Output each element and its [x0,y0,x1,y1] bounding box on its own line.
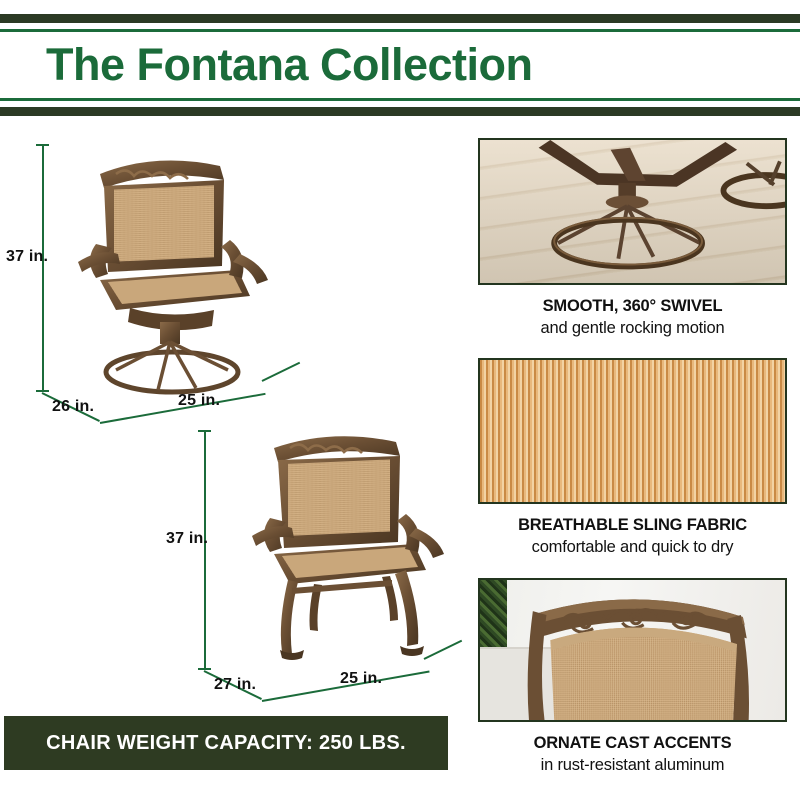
header-rule-bottom-thick [0,107,800,116]
swivel-depth-label: 26 in. [52,398,94,416]
swivel-chair-illustration [60,140,310,410]
ornate-chair-back-artwork [480,580,785,720]
swivel-height-label: 37 in. [6,248,48,266]
swivel-base-artwork [480,140,785,283]
feature-headline-swivel: SMOOTH, 360° SWIVEL [478,296,787,317]
dining-height-label: 37 in. [166,530,208,548]
cast-accent-photo [478,578,787,722]
feature-caption-fabric: BREATHABLE SLING FABRIC comfortable and … [478,515,787,558]
dining-width-label: 25 in. [340,670,382,688]
swivel-height-dim-line [42,144,44,392]
page-title: The Fontana Collection [46,40,533,90]
feature-caption-cast-accents: ORNATE CAST ACCENTS in rust-resistant al… [478,733,787,776]
feature-subline-cast-accents: in rust-resistant aluminum [478,754,787,776]
woven-fabric-texture [480,360,785,502]
header-rule-top-thick [0,14,800,23]
feature-subline-fabric: comfortable and quick to dry [478,536,787,558]
chair-weight-capacity-text: CHAIR WEIGHT CAPACITY: 250 LBS. [46,732,406,755]
feature-subline-swivel: and gentle rocking motion [478,317,787,339]
dining-chair-illustration [240,420,490,680]
product-infographic: The Fontana Collection [0,0,800,800]
dining-height-tick-top [198,430,211,432]
feature-headline-fabric: BREATHABLE SLING FABRIC [478,515,787,536]
feature-caption-swivel: SMOOTH, 360° SWIVEL and gentle rocking m… [478,296,787,339]
feature-block-swivel: SMOOTH, 360° SWIVEL and gentle rocking m… [478,138,787,339]
feature-headline-cast-accents: ORNATE CAST ACCENTS [478,733,787,754]
header-rule-top-thin [0,29,800,32]
dimension-diagrams-column: 37 in. 26 in. 25 in. [0,130,470,710]
swivel-height-tick-top [36,144,49,146]
header-rule-bottom-thin [0,98,800,101]
dining-depth-label: 27 in. [214,676,256,694]
feature-block-fabric: BREATHABLE SLING FABRIC comfortable and … [478,358,787,558]
chair-weight-capacity-banner: CHAIR WEIGHT CAPACITY: 250 LBS. [4,716,448,770]
header: The Fontana Collection [0,0,800,130]
dining-height-dim-line [204,430,206,670]
sling-fabric-photo [478,358,787,504]
swivel-width-label: 25 in. [178,392,220,410]
swivel-base-photo [478,138,787,285]
feature-block-cast-accents: ORNATE CAST ACCENTS in rust-resistant al… [478,578,787,776]
